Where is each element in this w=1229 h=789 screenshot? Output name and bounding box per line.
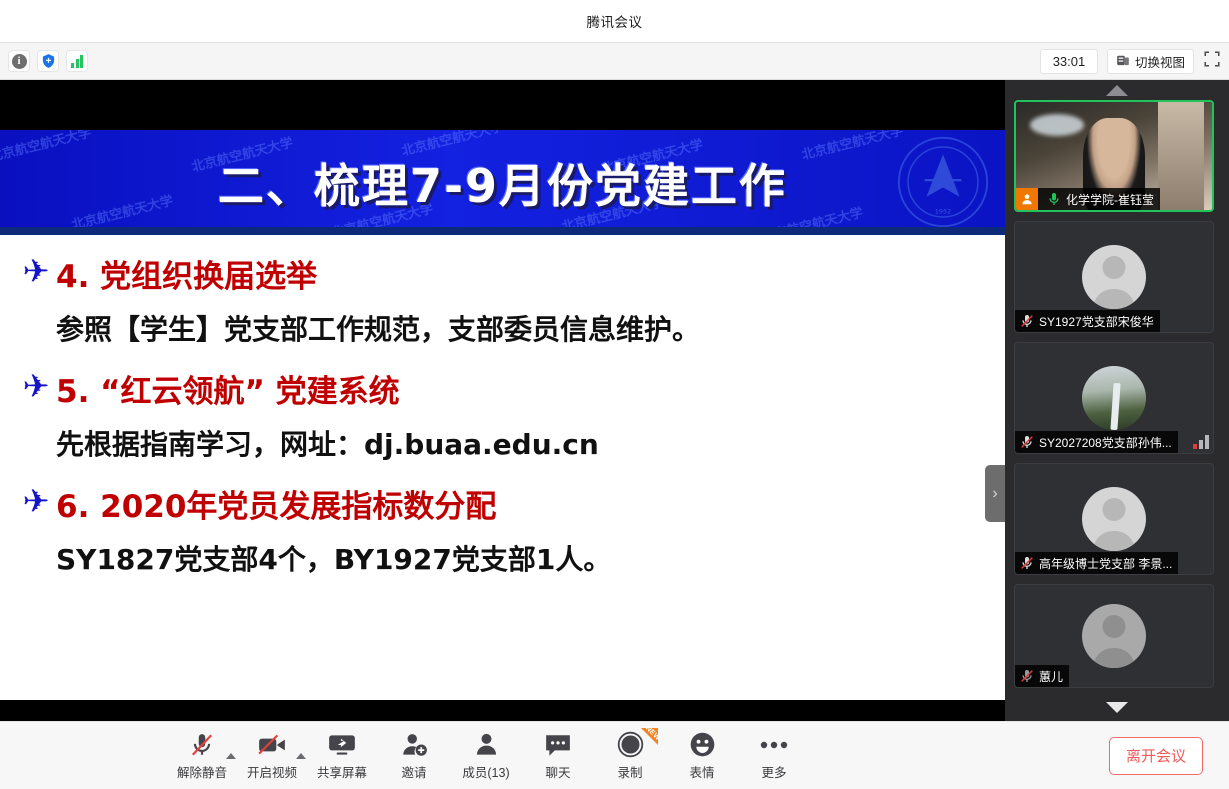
start-video-label: 开启视频 (247, 762, 297, 781)
new-badge: NEW (641, 728, 658, 745)
avatar-body (1093, 648, 1135, 668)
emoji-label: 表情 (689, 762, 714, 781)
more-icon (759, 731, 789, 759)
participant-namebar: 高年级博士党支部 李景... (1015, 552, 1178, 574)
record-button[interactable]: NEW 录制 (594, 731, 666, 781)
mic-on-icon (1046, 191, 1062, 207)
slide-header-underline (0, 227, 1005, 235)
participant-tile[interactable]: SY2027208党支部孙伟... (1014, 342, 1214, 454)
leave-meeting-button[interactable]: 离开会议 (1109, 737, 1203, 775)
participant-filmstrip: 化学学院-崔钰莹 SY1927党支部宋俊华 (1005, 80, 1229, 721)
chat-label: 聊天 (545, 762, 570, 781)
share-screen-label: 共享屏幕 (317, 762, 367, 781)
svg-text:1952: 1952 (935, 207, 951, 215)
mic-muted-icon (189, 731, 215, 759)
invite-icon (401, 731, 428, 759)
bullet-heading: 6. 2020年党员发展指标数分配 (56, 481, 496, 526)
new-badge-label: NEW (644, 724, 661, 741)
slide-body: ✈ 4. 党组织换届选举 参照【学生】党支部工作规范，支部委员信息维护。 ✈ 5… (0, 235, 1005, 578)
meeting-timer: 33:01 (1040, 49, 1098, 74)
university-logo-icon: 1952 (897, 136, 989, 228)
mic-muted-icon (1019, 668, 1035, 684)
leave-meeting-label: 离开会议 (1126, 745, 1186, 766)
avatar-body (1093, 531, 1135, 551)
share-screen-icon (327, 731, 357, 759)
slide-bullet: ✈ 5. “红云领航” 党建系统 (0, 364, 1005, 411)
members-label: 成员(13) (462, 762, 509, 781)
scroll-up-button[interactable] (1014, 80, 1220, 100)
emoji-icon (689, 731, 716, 759)
invite-label: 邀请 (401, 762, 426, 781)
collapse-panel-handle[interactable]: › (985, 465, 1005, 522)
participant-tile[interactable]: 化学学院-崔钰莹 (1014, 100, 1214, 212)
chevron-up-icon (1106, 85, 1128, 96)
camera-off-icon (257, 731, 287, 759)
start-video-button[interactable]: 开启视频 (236, 731, 308, 781)
mic-muted-icon (1019, 555, 1035, 571)
slide-bullet: ✈ 4. 党组织换届选举 (0, 249, 1005, 296)
host-badge-icon (1016, 188, 1038, 210)
network-quality-icon (1193, 435, 1209, 449)
participant-tile[interactable]: 蕙儿 (1014, 584, 1214, 688)
share-screen-button[interactable]: 共享屏幕 (306, 731, 378, 781)
airplane-bullet-icon: ✈ (16, 255, 56, 287)
security-button[interactable] (37, 50, 59, 72)
chevron-down-icon (1106, 702, 1128, 713)
shared-screen-stage: 北京航空航天大学 北京航空航天大学 北京航空航天大学 北京航空航天大学 北京航空… (0, 80, 1005, 721)
participant-name: 蕙儿 (1039, 668, 1063, 685)
members-icon (473, 731, 500, 759)
participant-name: SY2027208党支部孙伟... (1039, 434, 1172, 451)
shield-icon (41, 53, 56, 69)
network-button[interactable] (66, 50, 88, 72)
airplane-bullet-icon: ✈ (16, 485, 56, 517)
chat-button[interactable]: 聊天 (522, 731, 594, 781)
signal-icon (71, 55, 83, 68)
video-door (1158, 102, 1204, 210)
window-titlebar: 腾讯会议 (0, 0, 1229, 43)
participant-name: 高年级博士党支部 李景... (1039, 555, 1172, 572)
top-toolbar: i 33:01 切换视图 (0, 43, 1229, 80)
participant-namebar: 化学学院-崔钰莹 (1016, 188, 1160, 210)
bullet-subtext: SY1827党支部4个，BY1927党支部1人。 (0, 526, 1005, 578)
avatar (1082, 487, 1146, 551)
switch-view-button[interactable]: 切换视图 (1107, 49, 1194, 74)
bullet-heading: 4. 党组织换届选举 (56, 251, 317, 296)
participant-name: SY1927党支部宋俊华 (1039, 313, 1154, 330)
participant-tile[interactable]: SY1927党支部宋俊华 (1014, 221, 1214, 333)
app-title: 腾讯会议 (587, 11, 643, 31)
presentation-slide: 北京航空航天大学 北京航空航天大学 北京航空航天大学 北京航空航天大学 北京航空… (0, 130, 1005, 700)
bullet-heading: 5. “红云领航” 党建系统 (56, 366, 400, 411)
avatar-head (1103, 615, 1126, 638)
switch-view-label: 切换视图 (1135, 52, 1185, 71)
record-label: 录制 (617, 762, 642, 781)
meeting-window: 腾讯会议 i 33:01 (0, 0, 1229, 789)
slide-header: 北京航空航天大学 北京航空航天大学 北京航空航天大学 北京航空航天大学 北京航空… (0, 130, 1005, 235)
members-button[interactable]: 成员(13) (450, 731, 522, 781)
unmute-button[interactable]: 解除静音 (166, 731, 238, 781)
more-label: 更多 (761, 762, 786, 781)
unmute-label: 解除静音 (177, 762, 227, 781)
slide-bullet: ✈ 6. 2020年党员发展指标数分配 (0, 479, 1005, 526)
mic-muted-icon (1019, 434, 1035, 450)
avatar-photo-detail (1110, 382, 1120, 430)
avatar-head (1103, 498, 1126, 521)
chat-icon (544, 731, 572, 759)
bottom-toolbar: 解除静音 开启视频 (0, 721, 1229, 789)
switch-view-icon (1116, 54, 1130, 68)
avatar-body (1093, 289, 1135, 309)
info-icon: i (12, 54, 27, 69)
participant-namebar: SY1927党支部宋俊华 (1015, 310, 1160, 332)
scroll-down-button[interactable] (1005, 697, 1229, 717)
chevron-right-icon: › (992, 485, 997, 503)
avatar (1082, 604, 1146, 668)
avatar (1082, 366, 1146, 430)
avatar (1082, 245, 1146, 309)
invite-button[interactable]: 邀请 (378, 731, 450, 781)
slide-title: 二、梳理7-9月份党建工作 (0, 130, 1005, 235)
participant-name: 化学学院-崔钰莹 (1066, 191, 1154, 208)
participant-namebar: 蕙儿 (1015, 665, 1069, 687)
emoji-button[interactable]: 表情 (666, 731, 738, 781)
bullet-subtext: 先根据指南学习，网址：dj.buaa.edu.cn (0, 411, 1005, 463)
info-button[interactable]: i (8, 50, 30, 72)
mic-muted-icon (1019, 313, 1035, 329)
more-button[interactable]: 更多 (738, 731, 810, 781)
participant-tile[interactable]: 高年级博士党支部 李景... (1014, 463, 1214, 575)
fullscreen-icon (1203, 50, 1221, 68)
participant-namebar: SY2027208党支部孙伟... (1015, 431, 1178, 453)
fullscreen-button[interactable] (1203, 50, 1221, 73)
avatar-head (1103, 256, 1126, 279)
video-lamp (1030, 114, 1084, 136)
record-icon (617, 731, 644, 759)
airplane-bullet-icon: ✈ (16, 370, 56, 402)
bullet-subtext: 参照【学生】党支部工作规范，支部委员信息维护。 (0, 296, 1005, 348)
